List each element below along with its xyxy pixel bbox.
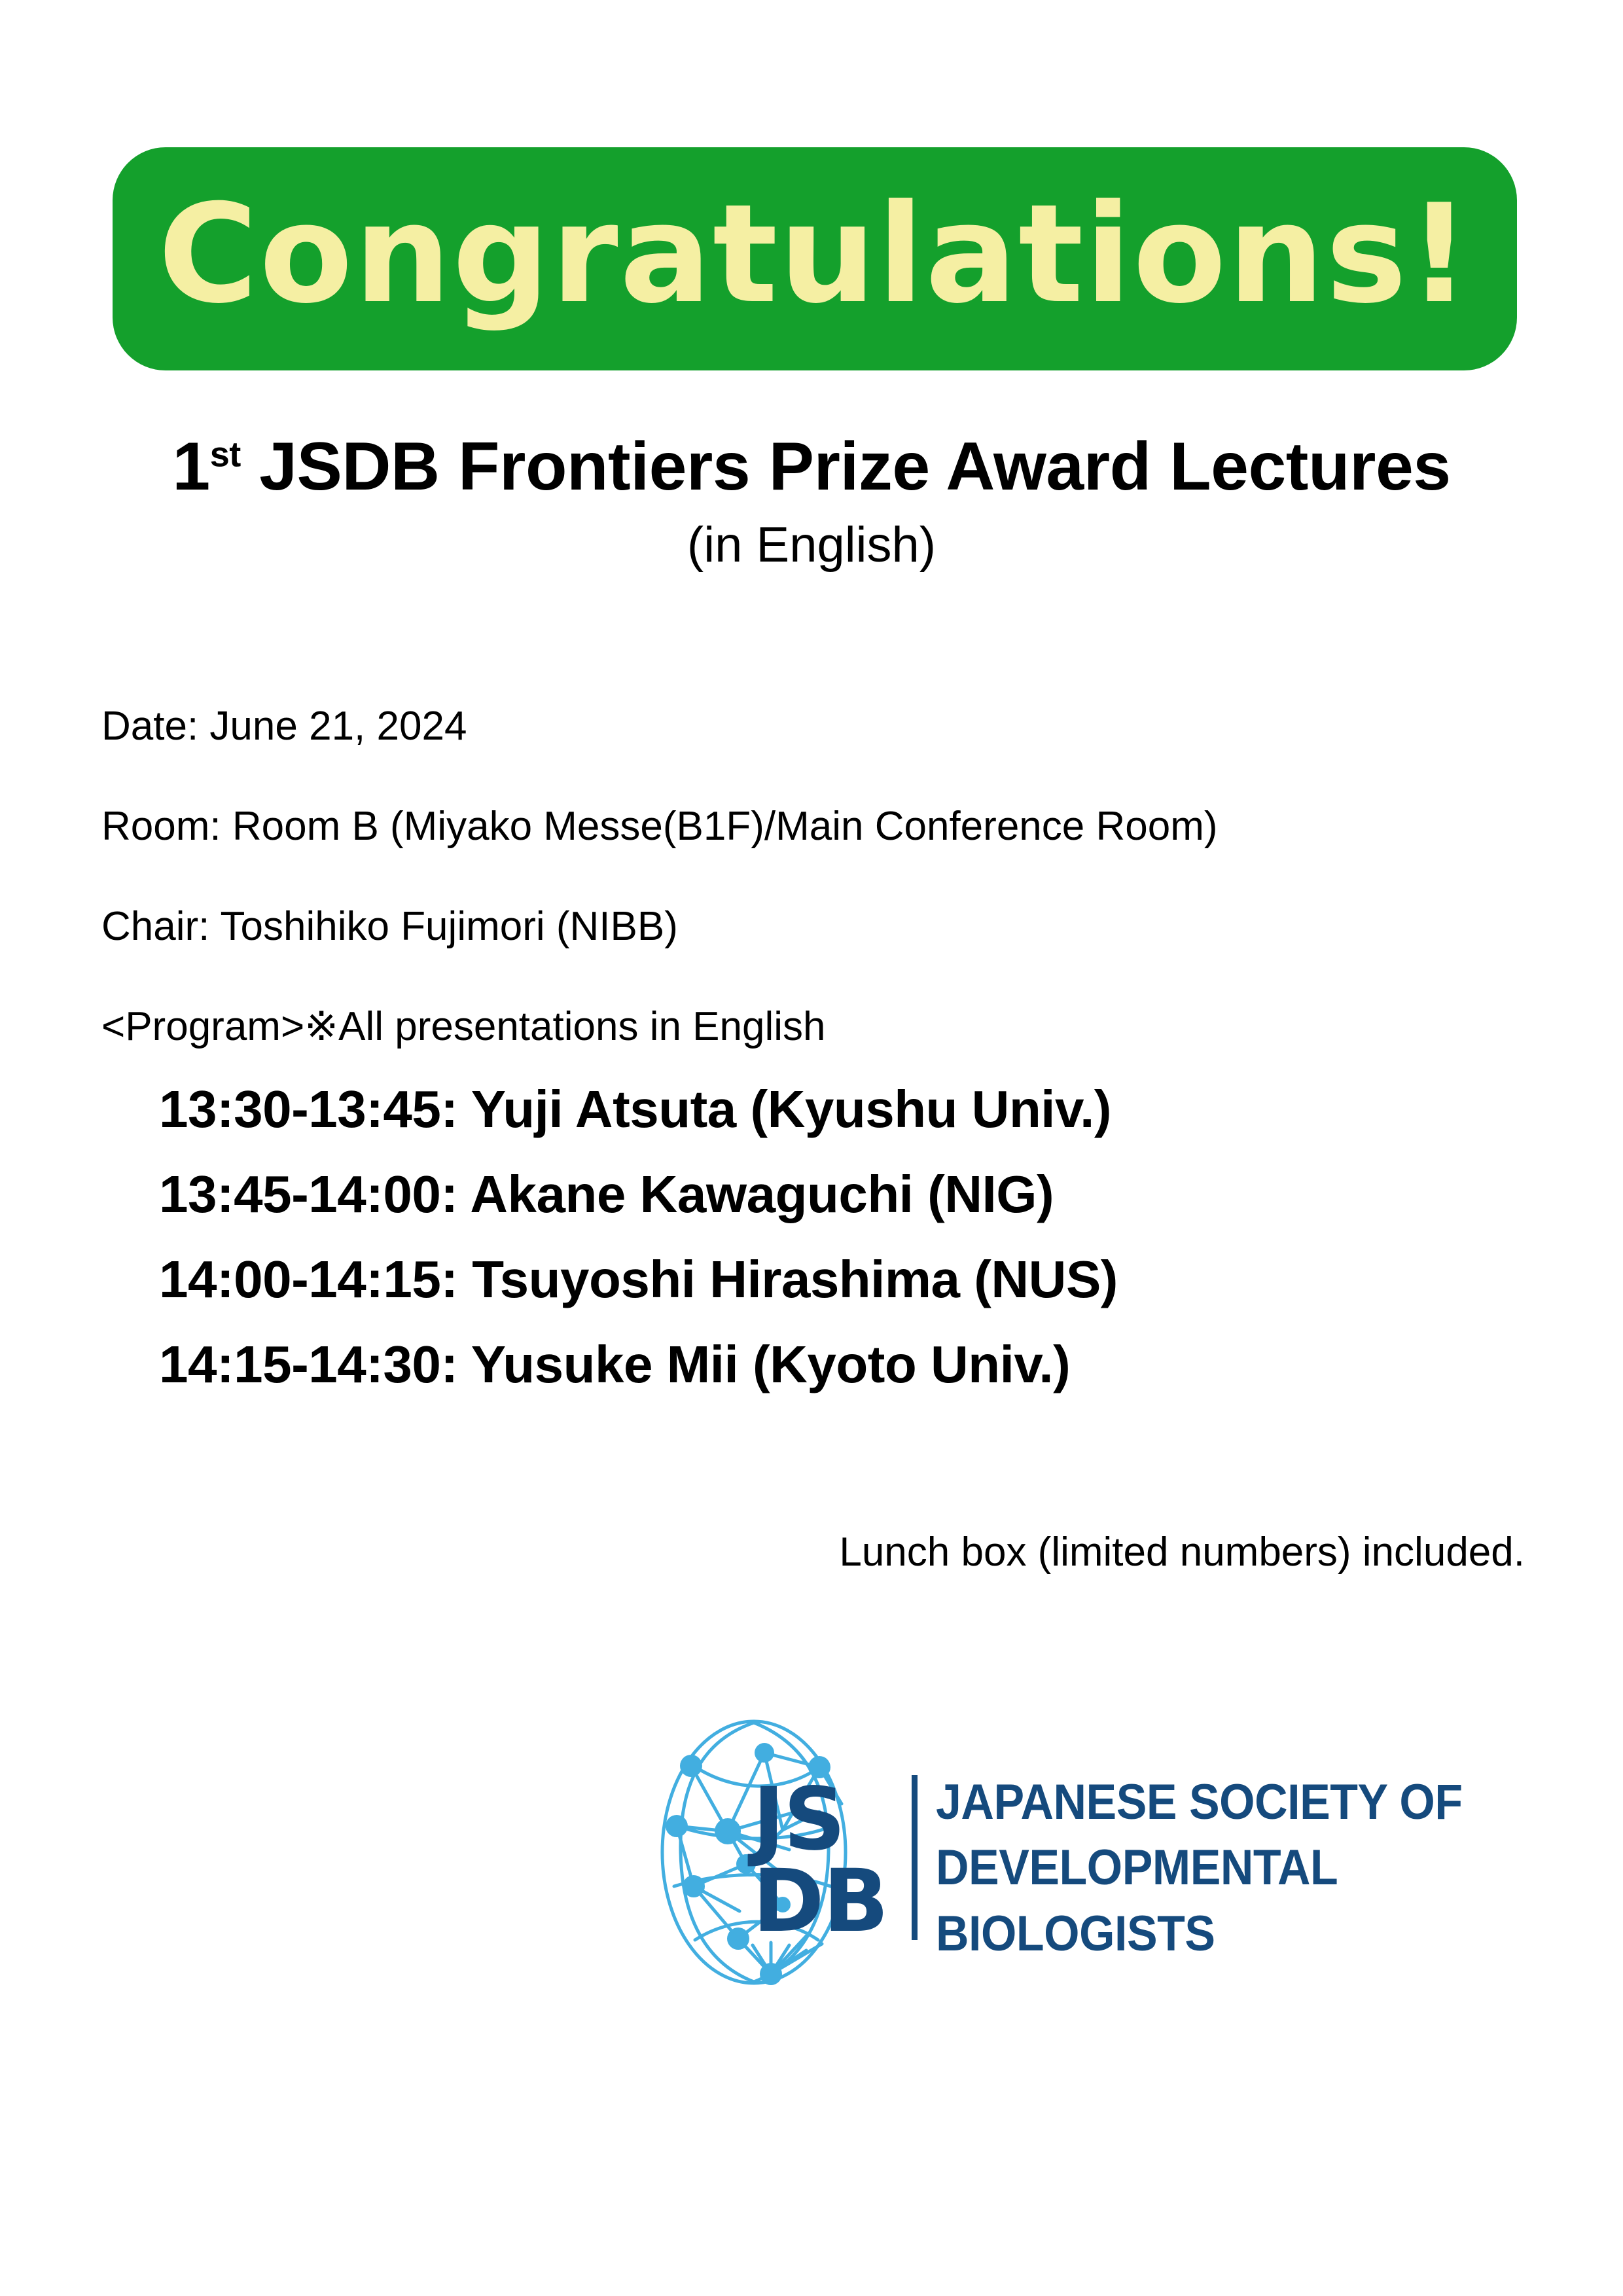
logo-name-line-1: JAPANESE SOCIETY OF (936, 1770, 1463, 1835)
info-line-chair: Chair: Toshihiko Fujimori (NIBB) (101, 903, 1541, 950)
info-line-program-header: <Program>※All presentations in English (101, 1003, 1541, 1050)
title-ordinal-suffix: st (210, 435, 241, 474)
schedule-item: 13:45-14:00: Akane Kawaguchi (NIG) (159, 1168, 1599, 1221)
title-ordinal-number: 1 (172, 429, 209, 505)
logo-society-name: JAPANESE SOCIETY OF DEVELOPMENTAL BIOLOG… (936, 1770, 1463, 1967)
logo-name-line-2: DEVELOPMENTAL (936, 1835, 1463, 1901)
lunch-box-note: Lunch box (limited numbers) included. (839, 1528, 1525, 1577)
schedule-item: 13:30-13:45: Yuji Atsuta (Kyushu Univ.) (159, 1083, 1599, 1136)
schedule-item: 14:00-14:15: Tsuyoshi Hirashima (NUS) (159, 1253, 1599, 1306)
jsdb-logo: JS DB JAPANESE SOCIETY OF DEVELOPMENTAL … (654, 1715, 1531, 1990)
logo-acronym: JS DB (753, 1779, 887, 1943)
logo-acronym-line-2: DB (753, 1861, 887, 1943)
banner-text: Congratulations! (115, 149, 1515, 368)
event-info-block: Date: June 21, 2024 Room: Room B (Miyako… (101, 702, 1541, 1051)
info-line-room: Room: Room B (Miyako Messe(B1F)/Main Con… (101, 802, 1541, 850)
logo-acronym-line-1: JS (753, 1779, 887, 1861)
logo-name-line-3: BIOLOGISTS (936, 1901, 1463, 1967)
logo-divider (912, 1775, 918, 1940)
schedule-item: 14:15-14:30: Yusuke Mii (Kyoto Univ.) (159, 1338, 1599, 1391)
title-rest: JSDB Frontiers Prize Award Lectures (241, 429, 1451, 505)
title-block: 1st JSDB Frontiers Prize Award Lectures … (0, 429, 1623, 573)
page-title: 1st JSDB Frontiers Prize Award Lectures (0, 429, 1623, 505)
page-subtitle: (in English) (0, 518, 1623, 573)
schedule-list: 13:30-13:45: Yuji Atsuta (Kyushu Univ.) … (159, 1083, 1599, 1391)
congratulations-banner: Congratulations! (115, 149, 1515, 368)
info-line-date: Date: June 21, 2024 (101, 702, 1541, 750)
